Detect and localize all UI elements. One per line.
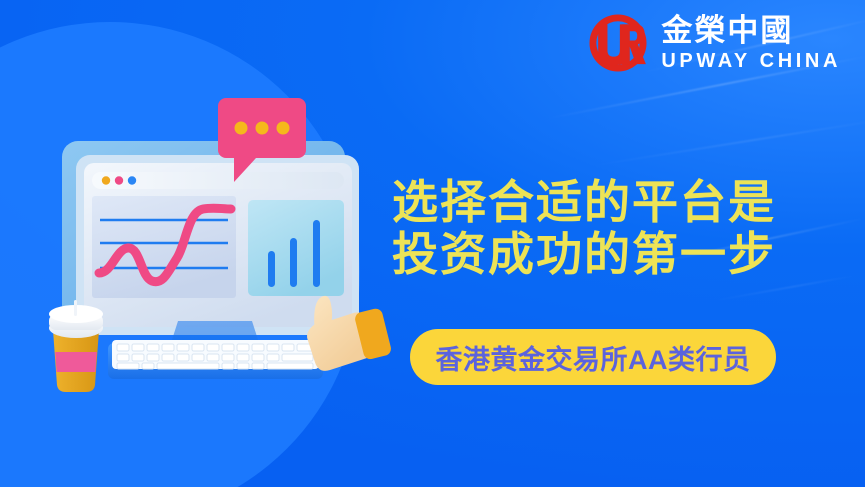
line-chart-panel bbox=[92, 196, 236, 298]
credential-badge-label: 香港黄金交易所AA类行员 bbox=[436, 338, 751, 377]
upway-monogram-icon bbox=[587, 12, 649, 74]
hero-illustration bbox=[0, 0, 420, 487]
bar-chart-panel bbox=[248, 200, 344, 296]
dot-amber-icon bbox=[102, 176, 110, 184]
bar bbox=[290, 238, 297, 287]
brand-logo: 金榮中國 UPWAY CHINA bbox=[587, 12, 841, 74]
browser-window bbox=[92, 172, 344, 189]
promo-banner: 金榮中國 UPWAY CHINA 选择合适的平台是 投资成功的第一步 香港黄金交… bbox=[0, 0, 865, 487]
credential-badge: 香港黄金交易所AA类行员 bbox=[410, 329, 776, 385]
brand-name-english: UPWAY CHINA bbox=[661, 51, 841, 71]
bar bbox=[313, 220, 320, 287]
coffee-cup-icon bbox=[49, 300, 103, 392]
bar bbox=[268, 251, 275, 287]
dot-blue-icon bbox=[128, 176, 136, 184]
headline-line-1: 选择合适的平台是 bbox=[392, 176, 776, 228]
headline-line-2: 投资成功的第一步 bbox=[392, 228, 776, 280]
keyboard bbox=[108, 340, 323, 379]
dot-pink-icon bbox=[115, 176, 123, 184]
brand-wordmark: 金榮中國 UPWAY CHINA bbox=[661, 15, 841, 71]
brand-name-chinese: 金榮中國 bbox=[661, 15, 841, 46]
headline: 选择合适的平台是 投资成功的第一步 bbox=[392, 176, 776, 281]
